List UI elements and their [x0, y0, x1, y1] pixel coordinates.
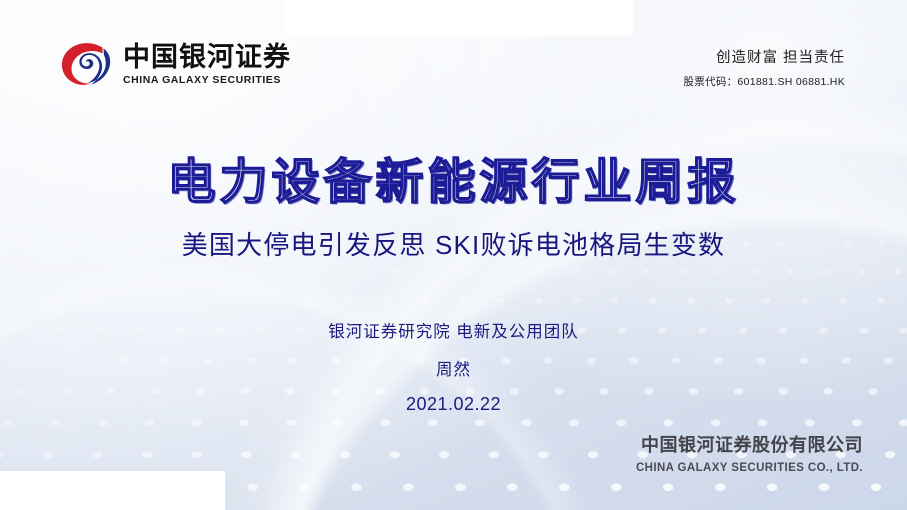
- brand-tagline-block: 创造财富 担当责任 股票代码：601881.SH 06881.HK: [683, 46, 845, 89]
- report-cover-slide: 中国银河证券 CHINA GALAXY SECURITIES 创造财富 担当责任…: [0, 0, 907, 510]
- footer-company-name-en: CHINA GALAXY SECURITIES CO., LTD.: [636, 462, 863, 474]
- brand-tagline: 创造财富 担当责任: [683, 46, 845, 67]
- top-white-panel: [285, 0, 633, 36]
- byline-block: 银河证券研究院 电新及公用团队 周然 2021.02.22: [0, 318, 907, 415]
- footer-block: 中国银河证券股份有限公司 CHINA GALAXY SECURITIES CO.…: [636, 431, 863, 474]
- bottom-left-white-panel: [0, 471, 225, 510]
- footer-company-name-cn: 中国银河证券股份有限公司: [636, 431, 863, 457]
- logo-company-name-en: CHINA GALAXY SECURITIES: [123, 75, 291, 86]
- byline-author: 周然: [0, 356, 907, 380]
- page-title: 电力设备新能源行业周报: [0, 142, 907, 212]
- brand-logo: 中国银河证券 CHINA GALAXY SECURITIES: [58, 40, 291, 90]
- byline-team: 银河证券研究院 电新及公用团队: [0, 318, 907, 342]
- stock-code-line: 股票代码：601881.SH 06881.HK: [683, 74, 845, 89]
- byline-date: 2021.02.22: [0, 394, 907, 415]
- page-subtitle: 美国大停电引发反思 SKI败诉电池格局生变数: [0, 225, 907, 262]
- logo-company-name-cn: 中国银河证券: [123, 44, 291, 71]
- galaxy-swirl-logo-icon: [58, 40, 114, 90]
